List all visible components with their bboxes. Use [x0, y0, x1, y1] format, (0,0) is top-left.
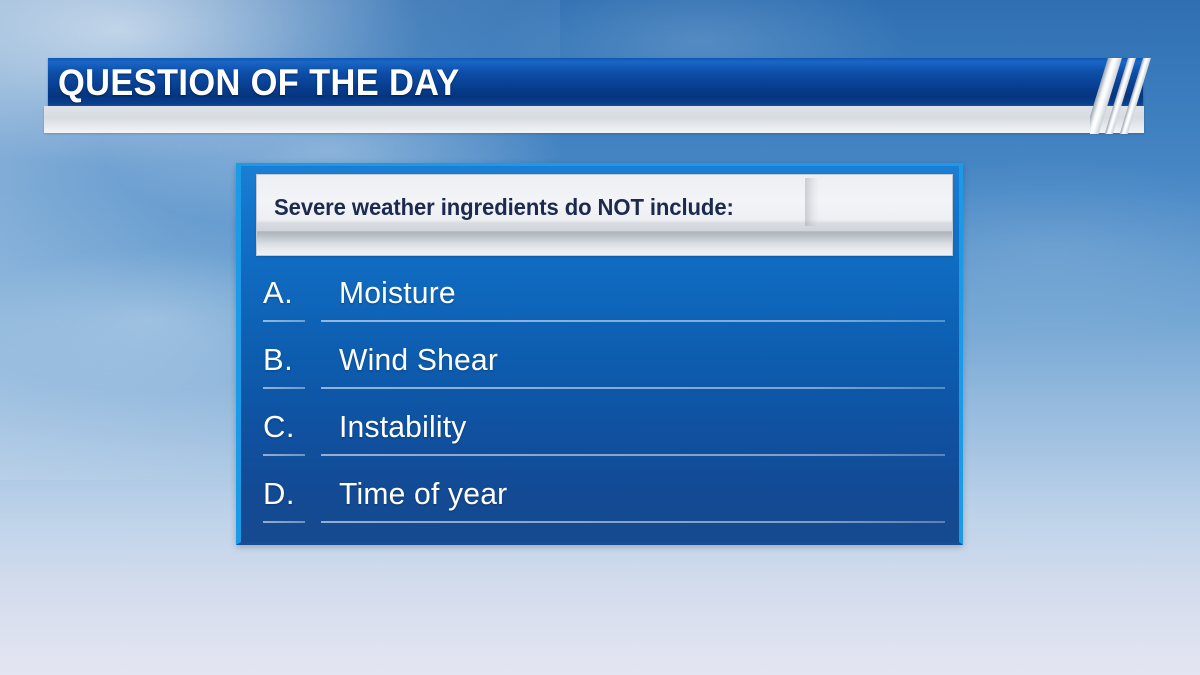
answer-letter-rule: [263, 521, 305, 523]
question-header-box: Severe weather ingredients do NOT includ…: [256, 174, 953, 256]
answer-text-d: Time of year: [339, 471, 507, 517]
answer-text-rule: [321, 521, 945, 523]
answer-letter-rule: [263, 454, 305, 456]
question-box-sheen: [257, 231, 952, 243]
answer-option-c[interactable]: C. Instability: [241, 404, 959, 471]
answer-option-a[interactable]: A. Moisture: [241, 270, 959, 337]
answer-letter-a: A.: [263, 270, 293, 316]
banner-gray-bar: [44, 106, 1144, 133]
answer-option-d[interactable]: D. Time of year: [241, 471, 959, 538]
answer-letter-rule: [263, 320, 305, 322]
title-banner: QUESTION OF THE DAY: [0, 58, 1200, 136]
answer-letter-rule: [263, 387, 305, 389]
answer-letter-d: D.: [263, 471, 295, 517]
answer-letter-c: C.: [263, 404, 295, 450]
page-title: QUESTION OF THE DAY: [58, 61, 460, 105]
answer-text-rule: [321, 454, 945, 456]
diagonal-slashes-icon: [1090, 58, 1160, 134]
question-prompt: Severe weather ingredients do NOT includ…: [274, 194, 734, 221]
question-panel: Severe weather ingredients do NOT includ…: [236, 163, 963, 545]
answer-options-list: A. Moisture B. Wind Shear C. Instability…: [241, 270, 959, 538]
answer-text-b: Wind Shear: [339, 337, 498, 383]
answer-letter-b: B.: [263, 337, 293, 383]
answer-text-c: Instability: [339, 404, 466, 450]
answer-text-rule: [321, 387, 945, 389]
answer-option-b[interactable]: B. Wind Shear: [241, 337, 959, 404]
question-divider: [805, 178, 819, 226]
answer-text-rule: [321, 320, 945, 322]
answer-text-a: Moisture: [339, 270, 456, 316]
